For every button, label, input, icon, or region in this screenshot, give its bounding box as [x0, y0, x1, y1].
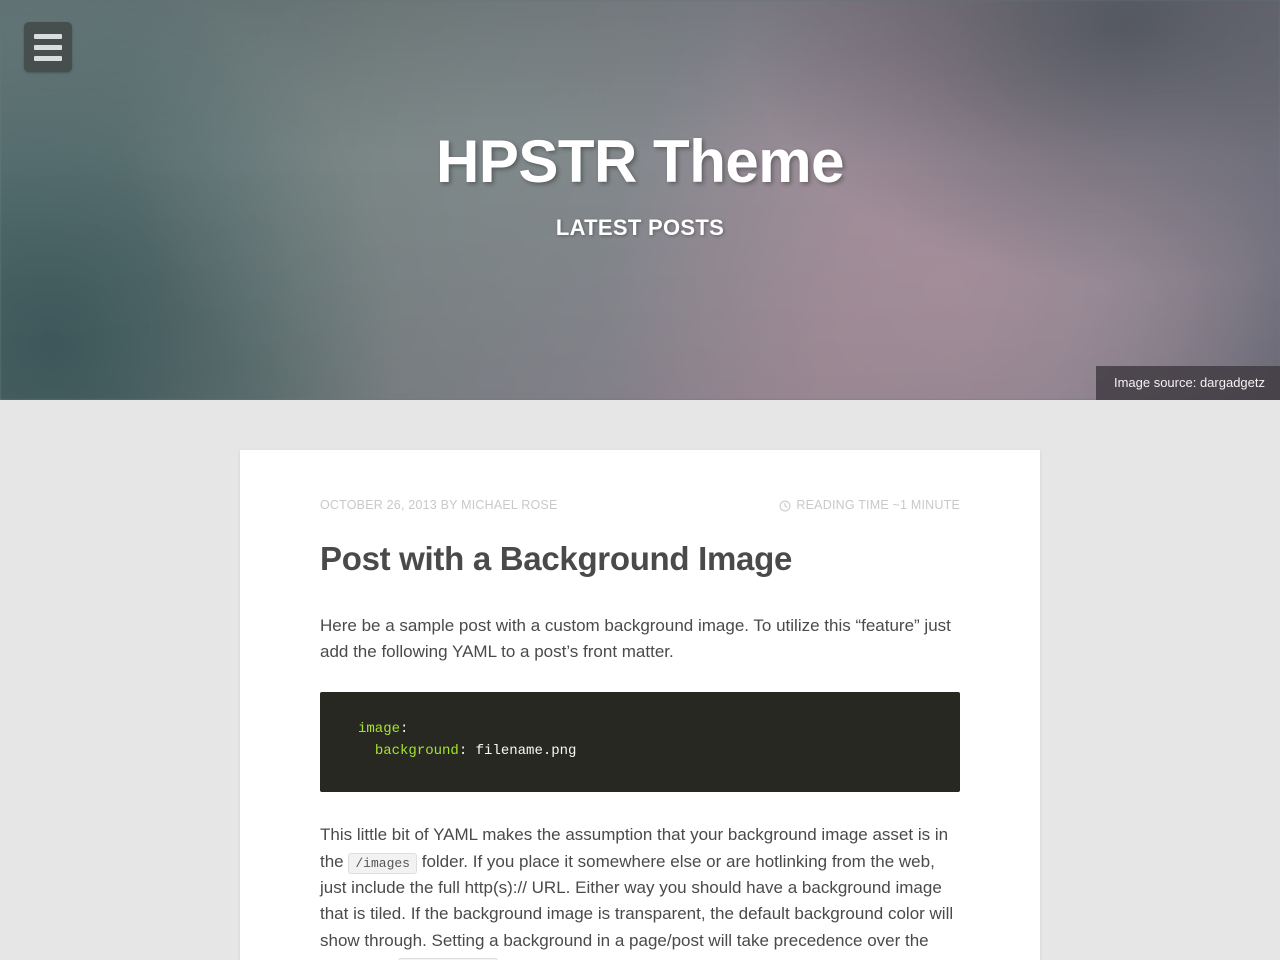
hamburger-bar-3	[34, 56, 62, 61]
post-meta: OCTOBER 26, 2013 BY MICHAEL ROSE READING…	[320, 498, 960, 512]
menu-toggle-button[interactable]	[24, 22, 72, 72]
hero-content: HPSTR Theme LATEST POSTS	[0, 0, 1280, 400]
paragraph-yaml-explanation: This little bit of YAML makes the assump…	[320, 822, 960, 960]
image-credit-badge: Image source: dargadgetz	[1096, 366, 1280, 400]
inline-code-images: /images	[348, 853, 417, 874]
code-value-filename: filename.png	[476, 743, 577, 759]
site-tagline: LATEST POSTS	[556, 215, 724, 241]
post-title: Post with a Background Image	[320, 540, 960, 579]
hamburger-bar-1	[34, 34, 62, 39]
post-reading-time: READING TIME ~1 MINUTE	[779, 498, 960, 512]
code-content: image: background: filename.png	[358, 718, 922, 763]
code-colon-2: :	[459, 743, 467, 759]
page-content: OCTOBER 26, 2013 BY MICHAEL ROSE READING…	[0, 400, 1280, 960]
post-date-author: OCTOBER 26, 2013 BY MICHAEL ROSE	[320, 498, 558, 512]
yaml-code-block: image: background: filename.png	[320, 692, 960, 793]
hamburger-bar-2	[34, 45, 62, 50]
code-key-image: image	[358, 721, 400, 737]
site-title: HPSTR Theme	[436, 130, 844, 193]
post-body: Here be a sample post with a custom back…	[320, 613, 960, 960]
code-colon-1: :	[400, 721, 408, 737]
paragraph-intro: Here be a sample post with a custom back…	[320, 613, 960, 666]
post-card: OCTOBER 26, 2013 BY MICHAEL ROSE READING…	[240, 450, 1040, 960]
reading-time-label: READING TIME ~1 MINUTE	[796, 498, 960, 512]
clock-icon	[779, 500, 791, 512]
code-key-background: background	[375, 743, 459, 759]
hero-banner: HPSTR Theme LATEST POSTS Image source: d…	[0, 0, 1280, 400]
